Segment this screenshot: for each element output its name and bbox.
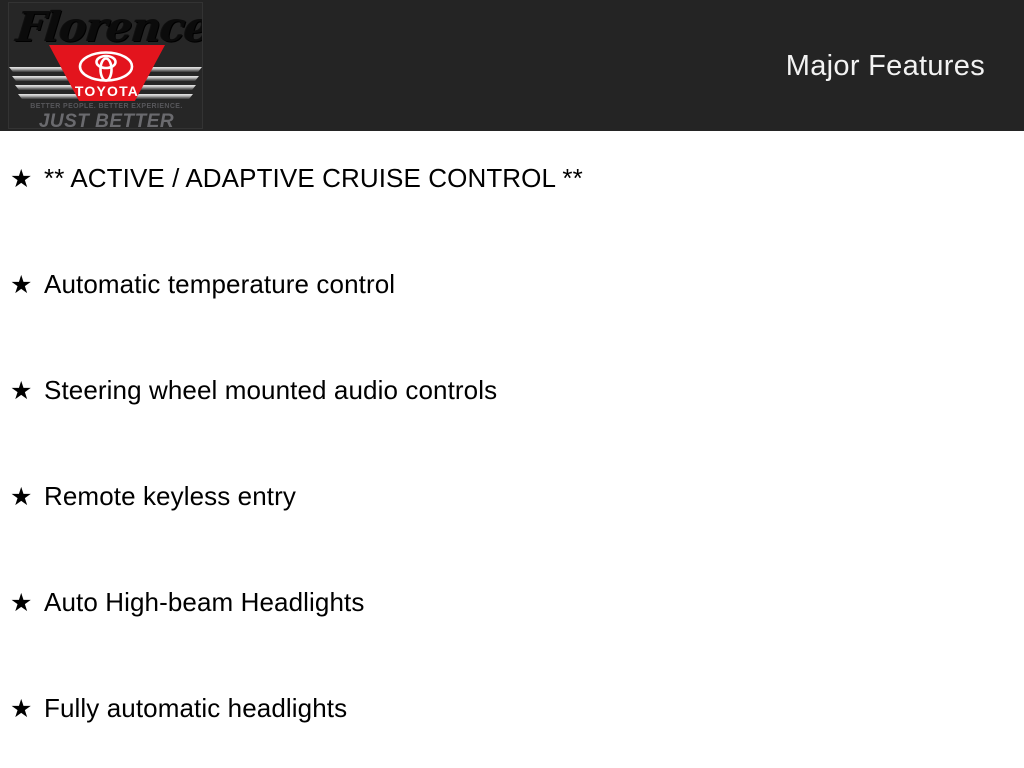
list-item: ★ Automatic temperature control	[0, 271, 1024, 377]
feature-label: Automatic temperature control	[44, 271, 395, 297]
dealer-logo: TOYOTA Florence BETTER PEOPLE. BETTER EX…	[8, 2, 203, 129]
feature-label: ** ACTIVE / ADAPTIVE CRUISE CONTROL **	[44, 165, 583, 191]
list-item: ★ Remote keyless entry	[0, 483, 1024, 589]
slide-header-bar: TOYOTA Florence BETTER PEOPLE. BETTER EX…	[0, 0, 1024, 131]
star-bullet-icon: ★	[10, 485, 44, 510]
list-item: ★ Auto High-beam Headlights	[0, 589, 1024, 695]
page-title: Major Features	[786, 50, 985, 83]
star-bullet-icon: ★	[10, 379, 44, 404]
feature-list: ★ ** ACTIVE / ADAPTIVE CRUISE CONTROL **…	[0, 131, 1024, 768]
star-bullet-icon: ★	[10, 591, 44, 616]
feature-label: Auto High-beam Headlights	[44, 589, 364, 615]
list-item: ★ ** ACTIVE / ADAPTIVE CRUISE CONTROL **	[0, 165, 1024, 271]
logo-tagline-small: BETTER PEOPLE. BETTER EXPERIENCE.	[9, 103, 203, 110]
star-bullet-icon: ★	[10, 697, 44, 722]
list-item: ★ Steering wheel mounted audio controls	[0, 377, 1024, 483]
toyota-wordmark: TOYOTA	[49, 83, 165, 99]
logo-tagline-big: JUST BETTER	[9, 111, 203, 129]
presentation-slide: TOYOTA Florence BETTER PEOPLE. BETTER EX…	[0, 0, 1024, 768]
list-item: ★ Fully automatic headlights	[0, 695, 1024, 768]
dealer-name-script: Florence	[15, 5, 200, 49]
feature-label: Fully automatic headlights	[44, 695, 347, 721]
star-bullet-icon: ★	[10, 273, 44, 298]
star-bullet-icon: ★	[10, 167, 44, 192]
feature-label: Steering wheel mounted audio controls	[44, 377, 497, 403]
logo-background: TOYOTA Florence BETTER PEOPLE. BETTER EX…	[9, 3, 202, 128]
feature-label: Remote keyless entry	[44, 483, 296, 509]
toyota-oval-icon	[78, 51, 134, 82]
